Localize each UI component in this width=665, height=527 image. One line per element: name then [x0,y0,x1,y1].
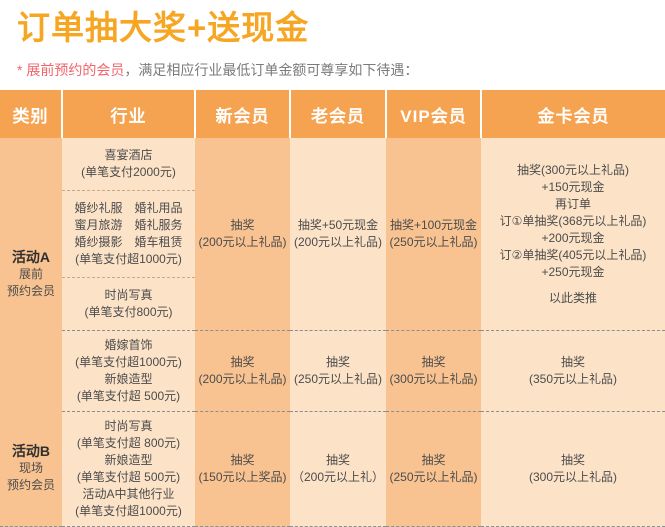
benefit-line: 抽奖 [197,354,288,371]
benefit-line: 再订单 [483,196,663,213]
category-line2: 现场 [2,460,60,477]
column-header-new-member: 新会员 [195,90,290,138]
category-cell-a: 活动A 展前 预约会员 [0,138,62,412]
vip-member-cell: 抽奖 (300元以上礼品) [386,331,481,412]
industry-block: 婚纱礼服 婚礼用品 蜜月旅游 婚礼服务 婚纱摄影 婚车租赁 (单笔支付超1000… [62,191,195,278]
benefit-line: (150元以上奖品) [197,469,288,486]
benefit-line: 抽奖 [292,354,384,371]
benefit-line: 抽奖 [388,354,479,371]
benefit-line: 抽奖 [197,217,288,234]
benefit-line: 抽奖 [197,452,288,469]
industry-cell: 婚嫁首饰 (单笔支付超1000元) 新娘造型 (单笔支付超 500元) [62,331,195,412]
benefit-line: （200元以上礼） [292,469,384,486]
benefit-line: +200元现金 [483,230,663,247]
benefit-line: (250元以上礼品) [388,469,479,486]
category-cell-b: 活动B 现场 预约会员 [0,412,62,527]
category-line3: 预约会员 [2,477,60,494]
benefit-line: +250元现金 [483,264,663,281]
gold-member-cell: 抽奖(300元以上礼品) +150元现金 再订单 订①单抽奖(368元以上礼品)… [481,138,665,331]
industry-line: 活动A中其他行业 [64,486,193,503]
benefit-line: 抽奖 [388,452,479,469]
column-header-industry: 行业 [62,90,195,138]
benefit-line: (300元以上礼品) [388,371,479,388]
industry-line: (单笔支付2000元) [66,164,191,181]
industry-line: (单笔支付超 500元) [64,388,193,405]
industry-line: 婚嫁首饰 [64,337,193,354]
benefit-line: (250元以上礼品) [292,371,384,388]
page-title: 订单抽大奖+送现金 [17,8,309,48]
industry-block: 喜宴酒店 (单笔支付2000元) [62,138,195,191]
table-header: 类别 行业 新会员 老会员 VIP会员 金卡会员 [0,90,665,138]
benefit-line: 抽奖+50元现金 [292,217,384,234]
industry-line: (单笔支付800元) [66,304,191,321]
gold-member-cell: 抽奖 (350元以上礼品) [481,331,665,412]
old-member-cell: 抽奖+50元现金 (200元以上礼品) [290,138,386,331]
industry-line: 新娘造型 [64,371,193,388]
benefit-line: 订①单抽奖(368元以上礼品) [483,213,663,230]
vip-member-cell: 抽奖+100元现金 (250元以上礼品) [386,138,481,331]
vip-member-cell: 抽奖 (250元以上礼品) [386,412,481,527]
column-header-old-member: 老会员 [290,90,386,138]
benefit-line: 抽奖 [483,452,663,469]
subtitle-rest: ，满足相应行业最低订单金额可尊享如下待遇： [124,62,418,78]
category-line3: 预约会员 [2,283,60,300]
benefits-table: 类别 行业 新会员 老会员 VIP会员 金卡会员 活动A 展前 预约会员 [0,90,665,527]
industry-line: 蜜月旅游 婚礼服务 [66,217,191,234]
column-header-gold-member: 金卡会员 [481,90,665,138]
gold-member-cell: 抽奖 (300元以上礼品) [481,412,665,527]
column-header-vip-member: VIP会员 [386,90,481,138]
old-member-cell: 抽奖 （200元以上礼） [290,412,386,527]
table-row: 活动A 展前 预约会员 喜宴酒店 (单笔支付2000元) 婚纱礼服 婚礼用品 蜜… [0,138,665,331]
table-row: 婚嫁首饰 (单笔支付超1000元) 新娘造型 (单笔支付超 500元) 抽奖 (… [0,331,665,412]
benefit-line: +150元现金 [483,179,663,196]
benefit-line: 抽奖+100元现金 [388,217,479,234]
benefit-line: (200元以上礼品) [197,371,288,388]
benefit-line: 抽奖(300元以上礼品) [483,162,663,179]
industry-line: (单笔支付超1000元) [66,251,191,268]
category-name: 活动A [2,249,60,266]
category-name: 活动B [2,443,60,460]
table-row: 活动B 现场 预约会员 时尚写真 (单笔支付超 800元) 新娘造型 (单笔支付… [0,412,665,527]
old-member-cell: 抽奖 (250元以上礼品) [290,331,386,412]
benefit-line: 以此类推 [483,290,663,307]
industry-cell: 喜宴酒店 (单笔支付2000元) 婚纱礼服 婚礼用品 蜜月旅游 婚礼服务 婚纱摄… [62,138,195,331]
new-member-cell: 抽奖 (150元以上奖品) [195,412,290,527]
benefit-line: (200元以上礼品) [197,234,288,251]
spacer [483,281,663,290]
industry-line: 婚纱礼服 婚礼用品 [66,200,191,217]
industry-line: (单笔支付超 800元) [64,435,193,452]
industry-cell: 时尚写真 (单笔支付超 800元) 新娘造型 (单笔支付超 500元) 活动A中… [62,412,195,527]
benefit-line: (300元以上礼品) [483,469,663,486]
table-header-row: 类别 行业 新会员 老会员 VIP会员 金卡会员 [0,90,665,138]
category-line2: 展前 [2,266,60,283]
benefit-line: 抽奖 [483,354,663,371]
page-subtitle: * 展前预约的会员，满足相应行业最低订单金额可尊享如下待遇： [17,60,418,80]
benefit-line: (250元以上礼品) [388,234,479,251]
industry-line: (单笔支付超 500元) [64,469,193,486]
industry-line: (单笔支付超1000元) [64,354,193,371]
industry-line: 新娘造型 [64,452,193,469]
new-member-cell: 抽奖 (200元以上礼品) [195,138,290,331]
benefit-line: (200元以上礼品) [292,234,384,251]
subtitle-highlight: * 展前预约的会员 [17,62,124,78]
industry-line: (单笔支付超1000元) [64,503,193,520]
industry-line: 时尚写真 [66,287,191,304]
industry-line: 婚纱摄影 婚车租赁 [66,234,191,251]
industry-line: 时尚写真 [64,418,193,435]
promo-page: 订单抽大奖+送现金 * 展前预约的会员，满足相应行业最低订单金额可尊享如下待遇：… [0,0,665,516]
industry-block: 时尚写真 (单笔支付800元) [62,278,195,330]
benefit-line: (350元以上礼品) [483,371,663,388]
new-member-cell: 抽奖 (200元以上礼品) [195,331,290,412]
benefit-line: 订②单抽奖(405元以上礼品) [483,247,663,264]
table-body: 活动A 展前 预约会员 喜宴酒店 (单笔支付2000元) 婚纱礼服 婚礼用品 蜜… [0,138,665,527]
benefit-line: 抽奖 [292,452,384,469]
column-header-category: 类别 [0,90,62,138]
industry-line: 喜宴酒店 [66,147,191,164]
